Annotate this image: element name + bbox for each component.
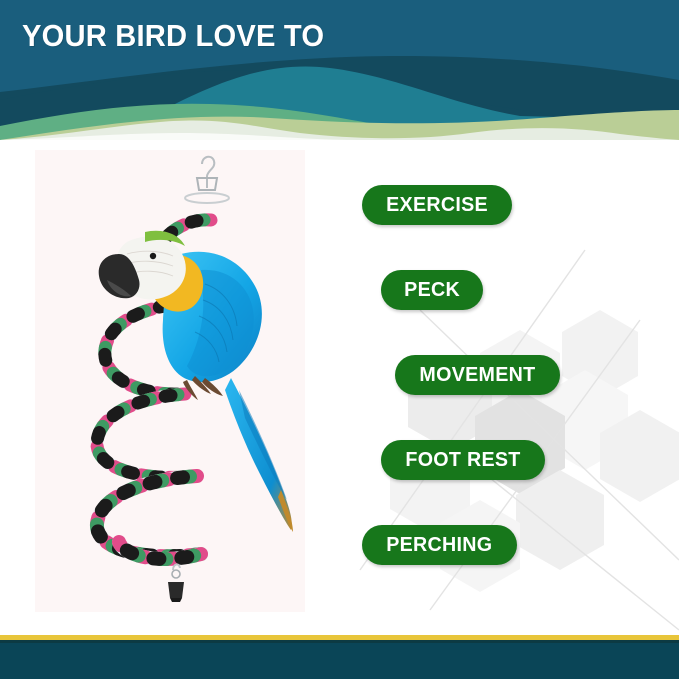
feature-pill-movement[interactable]: MOVEMENT [395, 355, 560, 395]
feature-pill-label: MOVEMENT [419, 363, 535, 387]
product-image-panel [35, 150, 305, 612]
feature-pill-list: EXERCISE PECK MOVEMENT FOOT REST PERCHIN… [355, 185, 570, 605]
feature-pill-peck[interactable]: PECK [381, 270, 483, 310]
product-stage [35, 150, 305, 612]
content-area: EXERCISE PECK MOVEMENT FOOT REST PERCHIN… [0, 140, 679, 635]
product-photo-spiral-rope-perch [35, 150, 305, 612]
page-title: YOUR BIRD LOVE TO [22, 18, 324, 54]
bird-eye [150, 253, 156, 259]
footer-band [0, 643, 679, 679]
hexagon-icon [562, 310, 638, 398]
feature-pill-label: FOOT REST [405, 448, 520, 472]
feature-pill-label: PECK [404, 278, 460, 302]
feature-pill-label: EXERCISE [386, 193, 488, 217]
infographic-root: YOUR BIRD LOVE TO [0, 0, 679, 679]
feature-pill-foot-rest[interactable]: FOOT REST [381, 440, 545, 480]
feature-pill-perching[interactable]: PERCHING [362, 525, 517, 565]
feature-pill-label: PERCHING [386, 533, 492, 557]
photo-backdrop [35, 150, 305, 612]
header-band: YOUR BIRD LOVE TO [0, 0, 679, 140]
hexagon-icon [600, 410, 679, 502]
feature-pill-exercise[interactable]: EXERCISE [362, 185, 512, 225]
